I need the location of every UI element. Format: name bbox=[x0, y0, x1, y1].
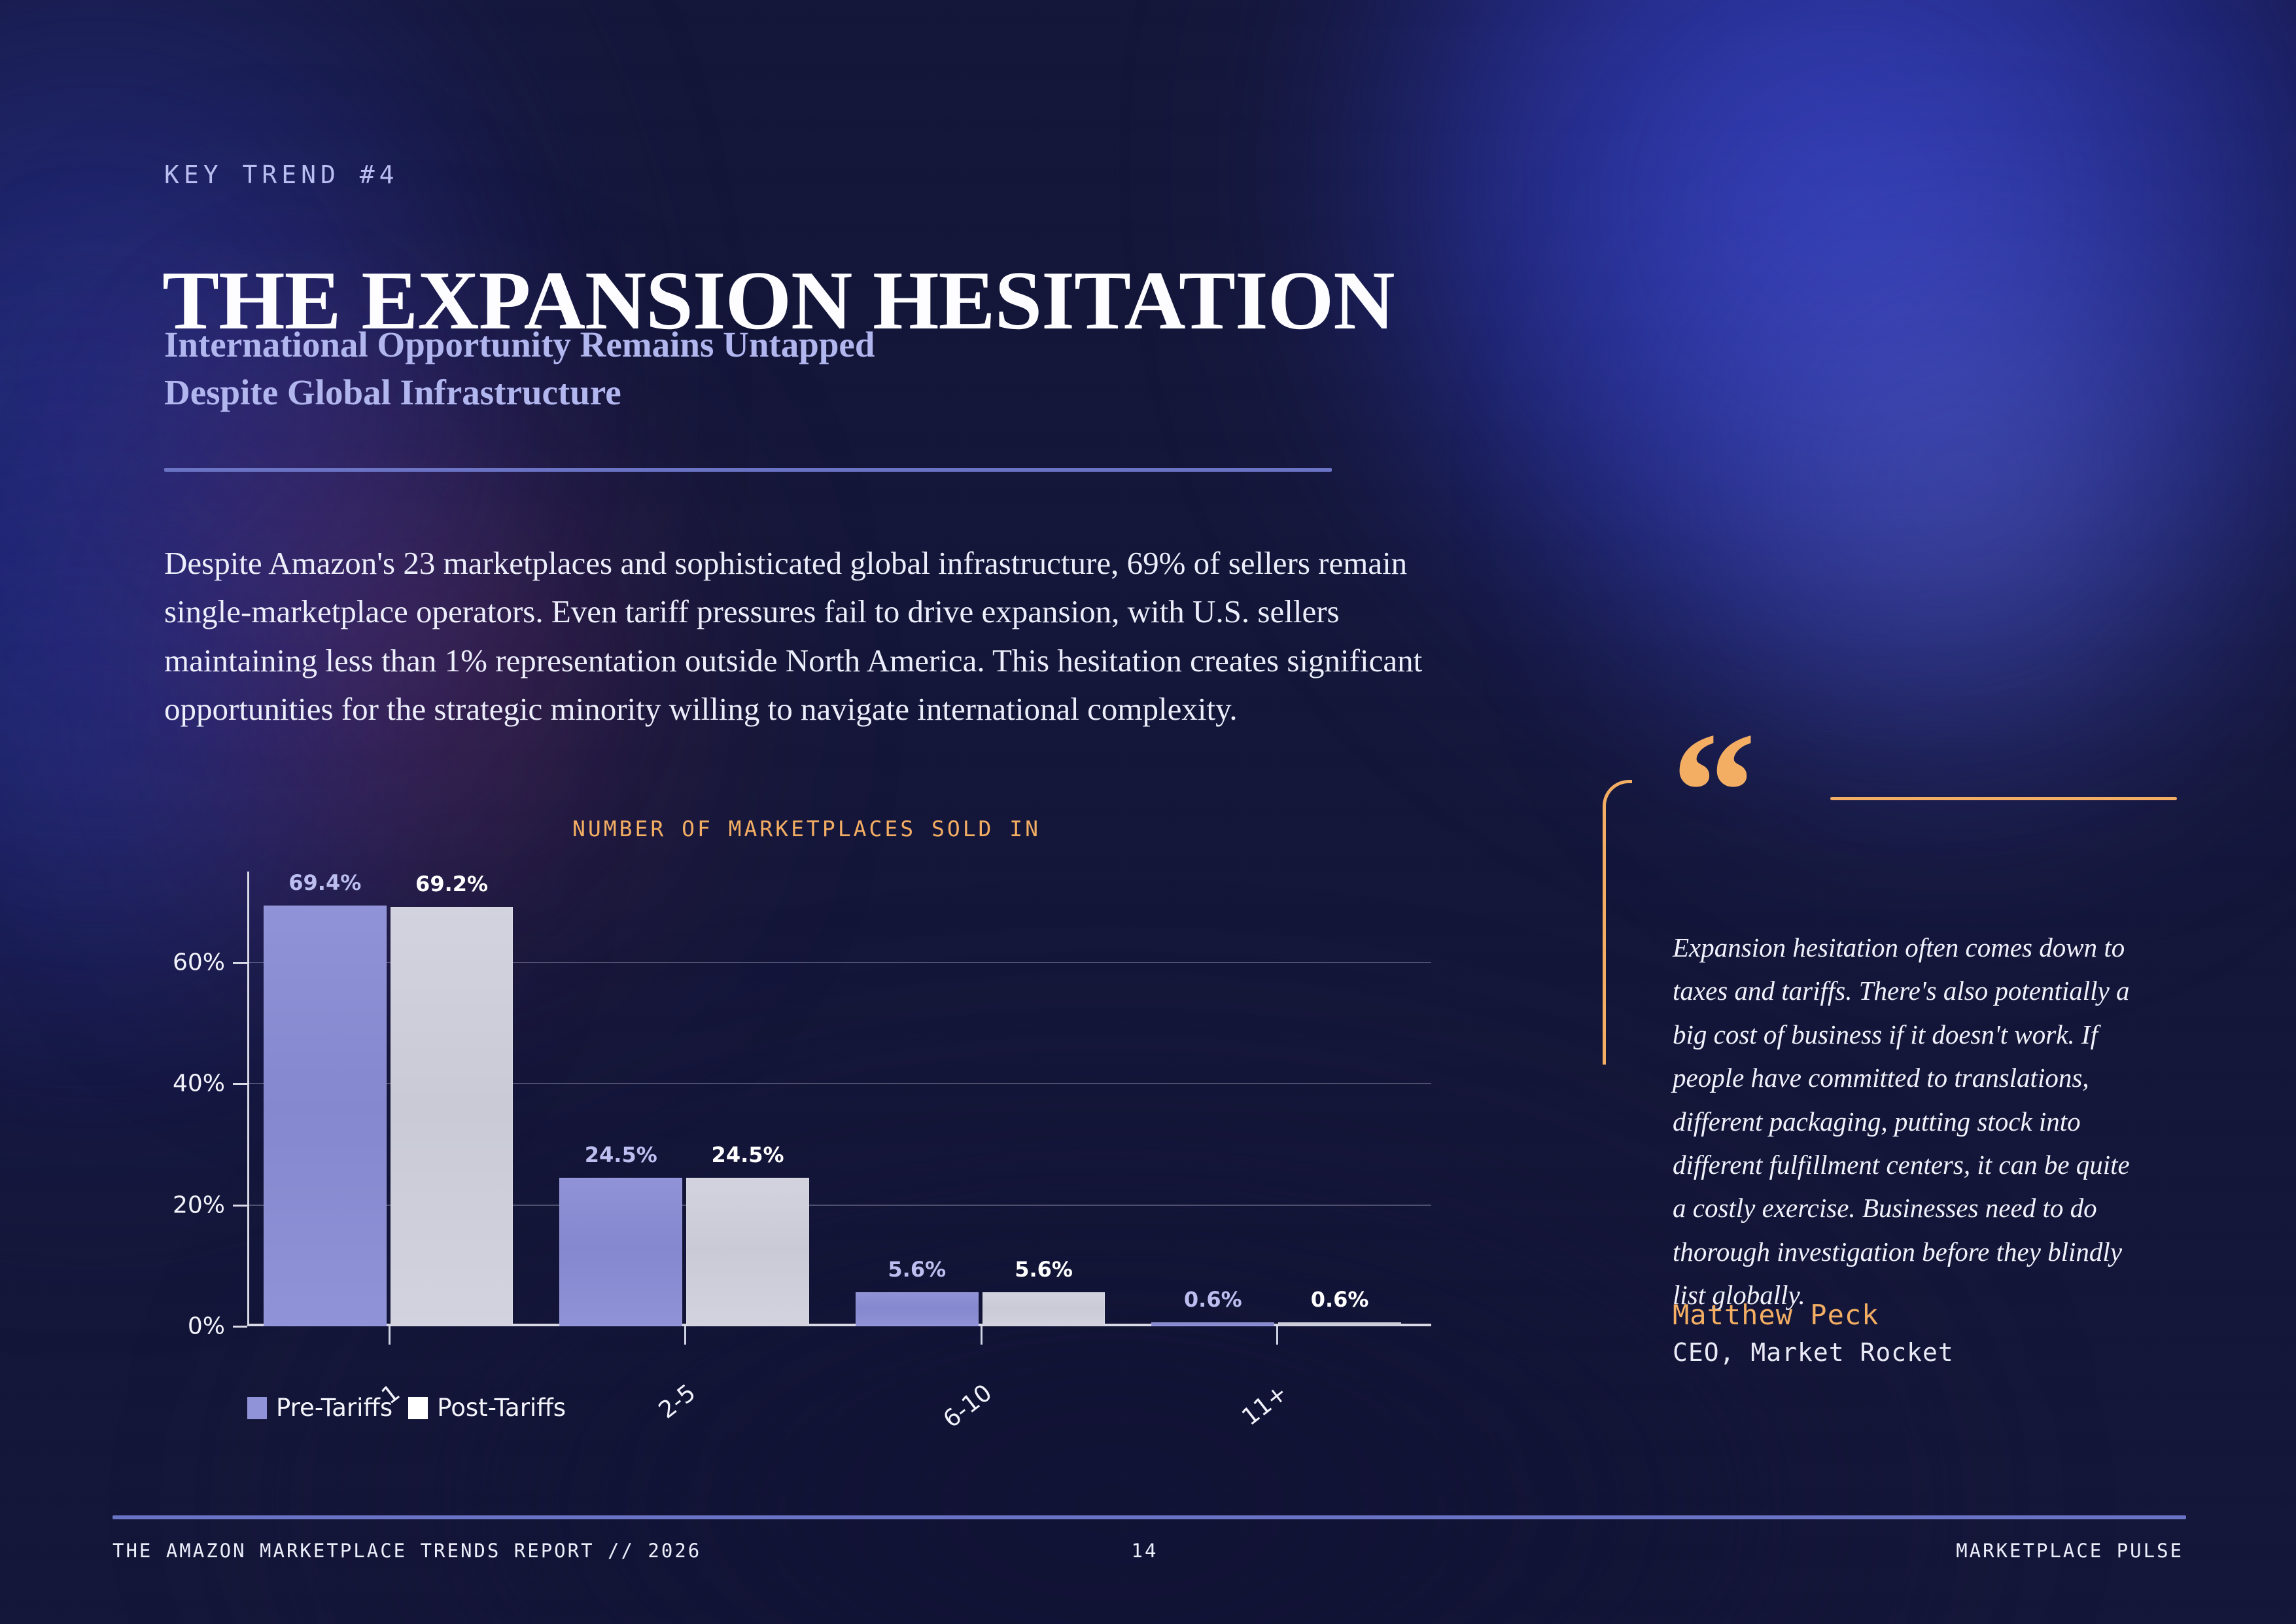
y-axis-label: 40% bbox=[173, 1070, 225, 1097]
page-subtitle: International Opportunity Remains Untapp… bbox=[164, 321, 875, 416]
quote-mark-icon: “ bbox=[1671, 739, 1752, 845]
bar-value-label: 24.5% bbox=[585, 1142, 657, 1167]
chart-legend: Pre-Tariffs Post-Tariffs bbox=[247, 1394, 566, 1422]
slide-page: KEY TREND #4 THE EXPANSION HESITATION In… bbox=[0, 0, 2296, 1624]
subtitle-line-1: International Opportunity Remains Untapp… bbox=[164, 321, 875, 368]
bar-pre-tariffs-2-5 bbox=[559, 1178, 682, 1326]
bar-pre-tariffs-1 bbox=[264, 906, 387, 1326]
legend-swatch-post-tariffs bbox=[408, 1397, 428, 1419]
bar-value-label: 0.6% bbox=[1311, 1287, 1369, 1312]
y-axis-line bbox=[247, 872, 249, 1326]
legend-item-pre-tariffs: Pre-Tariffs bbox=[247, 1394, 392, 1422]
y-axis-tick bbox=[233, 962, 247, 964]
quote-bracket-decoration bbox=[1603, 780, 1632, 1065]
legend-label-pre-tariffs: Pre-Tariffs bbox=[276, 1394, 392, 1422]
bar-post-tariffs-11+ bbox=[1278, 1322, 1401, 1326]
chart-title: NUMBER OF MARKETPLACES SOLD IN bbox=[572, 816, 1041, 841]
quote-text: Expansion hesitation often comes down to… bbox=[1673, 926, 2145, 1317]
legend-swatch-pre-tariffs bbox=[247, 1397, 267, 1419]
x-axis-label-2-5: 2-5 bbox=[623, 1379, 701, 1449]
bar-post-tariffs-1 bbox=[391, 907, 513, 1326]
bar-value-label: 0.6% bbox=[1184, 1287, 1242, 1312]
bar-value-label: 5.6% bbox=[888, 1257, 946, 1282]
x-axis-tick bbox=[1276, 1326, 1278, 1345]
footer-divider bbox=[113, 1515, 2186, 1519]
y-axis-label: 20% bbox=[173, 1192, 225, 1218]
subtitle-line-2: Despite Global Infrastructure bbox=[164, 368, 875, 416]
marketplaces-bar-chart: NUMBER OF MARKETPLACES SOLD IN 0%20%40%6… bbox=[164, 811, 1439, 1472]
y-axis-tick bbox=[233, 1326, 247, 1328]
footer-brand: MARKETPLACE PULSE bbox=[1956, 1540, 2183, 1562]
x-axis-tick bbox=[389, 1326, 391, 1345]
y-axis-label: 60% bbox=[173, 949, 225, 976]
header-divider bbox=[164, 468, 1332, 472]
body-paragraph: Despite Amazon's 23 marketplaces and sop… bbox=[164, 539, 1430, 734]
bar-value-label: 24.5% bbox=[712, 1142, 784, 1167]
footer-report-name: THE AMAZON MARKETPLACE TRENDS REPORT // … bbox=[113, 1540, 701, 1562]
bar-value-label: 69.4% bbox=[288, 870, 361, 895]
quote-author: Matthew Peck bbox=[1673, 1299, 1879, 1331]
footer-page-number: 14 bbox=[1132, 1540, 1158, 1562]
quote-rule bbox=[1830, 797, 2177, 800]
quote-author-role: CEO, Market Rocket bbox=[1673, 1338, 1954, 1367]
x-axis-label-6-10: 6-10 bbox=[918, 1379, 997, 1449]
x-axis-label-11+: 11+ bbox=[1215, 1379, 1293, 1449]
bar-post-tariffs-2-5 bbox=[686, 1178, 809, 1326]
bar-post-tariffs-6-10 bbox=[983, 1292, 1105, 1326]
bar-value-label: 69.2% bbox=[415, 872, 488, 896]
legend-label-post-tariffs: Post-Tariffs bbox=[437, 1394, 566, 1422]
chart-plot-area: 0%20%40%60%69.4%69.2%124.5%24.5%2-55.6%5… bbox=[247, 872, 1431, 1326]
bar-pre-tariffs-6-10 bbox=[856, 1292, 979, 1326]
y-axis-tick bbox=[233, 1205, 247, 1207]
legend-item-post-tariffs: Post-Tariffs bbox=[408, 1394, 566, 1422]
x-axis-tick bbox=[981, 1326, 983, 1345]
y-axis-tick bbox=[233, 1083, 247, 1085]
bar-value-label: 5.6% bbox=[1015, 1257, 1073, 1282]
eyebrow-label: KEY TREND #4 bbox=[164, 160, 399, 189]
y-axis-label: 0% bbox=[188, 1313, 225, 1340]
bar-pre-tariffs-11+ bbox=[1151, 1322, 1274, 1326]
x-axis-tick bbox=[684, 1326, 686, 1345]
